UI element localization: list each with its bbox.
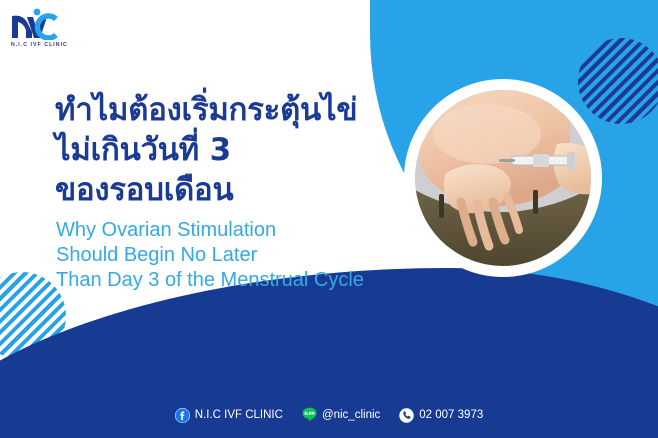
subheadline-line-2: Should Begin No Later bbox=[56, 243, 364, 268]
subheadline-line-3: Than Day 3 of the Menstrual Cycle bbox=[56, 268, 364, 293]
clinic-logo: N.I.C IVF CLINIC bbox=[10, 8, 68, 48]
contact-facebook[interactable]: N.I.C IVF CLINIC bbox=[175, 408, 283, 423]
line-icon bbox=[302, 407, 317, 423]
headline-line-2: ไม่เกินวันที่ 3 bbox=[55, 130, 357, 170]
woman-injecting-abdomen-photo bbox=[415, 90, 591, 266]
photo-ring bbox=[404, 79, 602, 277]
contact-phone-label: 02 007 3973 bbox=[419, 409, 483, 421]
headline-line-1: ทำไมต้องเริ่มกระตุ้นไข่ bbox=[55, 90, 357, 130]
headline-line-3: ของรอบเดือน bbox=[55, 170, 357, 210]
subheadline: Why Ovarian Stimulation Should Begin No … bbox=[56, 218, 364, 293]
subheadline-line-1: Why Ovarian Stimulation bbox=[56, 218, 364, 243]
striped-circle-icon bbox=[578, 38, 658, 124]
promo-banner: N.I.C IVF CLINIC ทำไมต้องเริ่มกระตุ้นไข่… bbox=[0, 0, 658, 438]
headline: ทำไมต้องเริ่มกระตุ้นไข่ ไม่เกินวันที่ 3 … bbox=[55, 90, 357, 210]
facebook-icon bbox=[175, 408, 190, 423]
logo-caption: N.I.C IVF CLINIC bbox=[11, 42, 68, 48]
contact-line-label: @nic_clinic bbox=[322, 409, 380, 421]
contact-facebook-label: N.I.C IVF CLINIC bbox=[195, 409, 283, 421]
contact-bar: N.I.C IVF CLINIC @nic_clinic bbox=[0, 392, 658, 438]
contact-line[interactable]: @nic_clinic bbox=[302, 407, 380, 423]
nic-monogram-logo-icon bbox=[10, 8, 58, 40]
phone-icon bbox=[399, 408, 414, 423]
contact-phone[interactable]: 02 007 3973 bbox=[399, 408, 483, 423]
